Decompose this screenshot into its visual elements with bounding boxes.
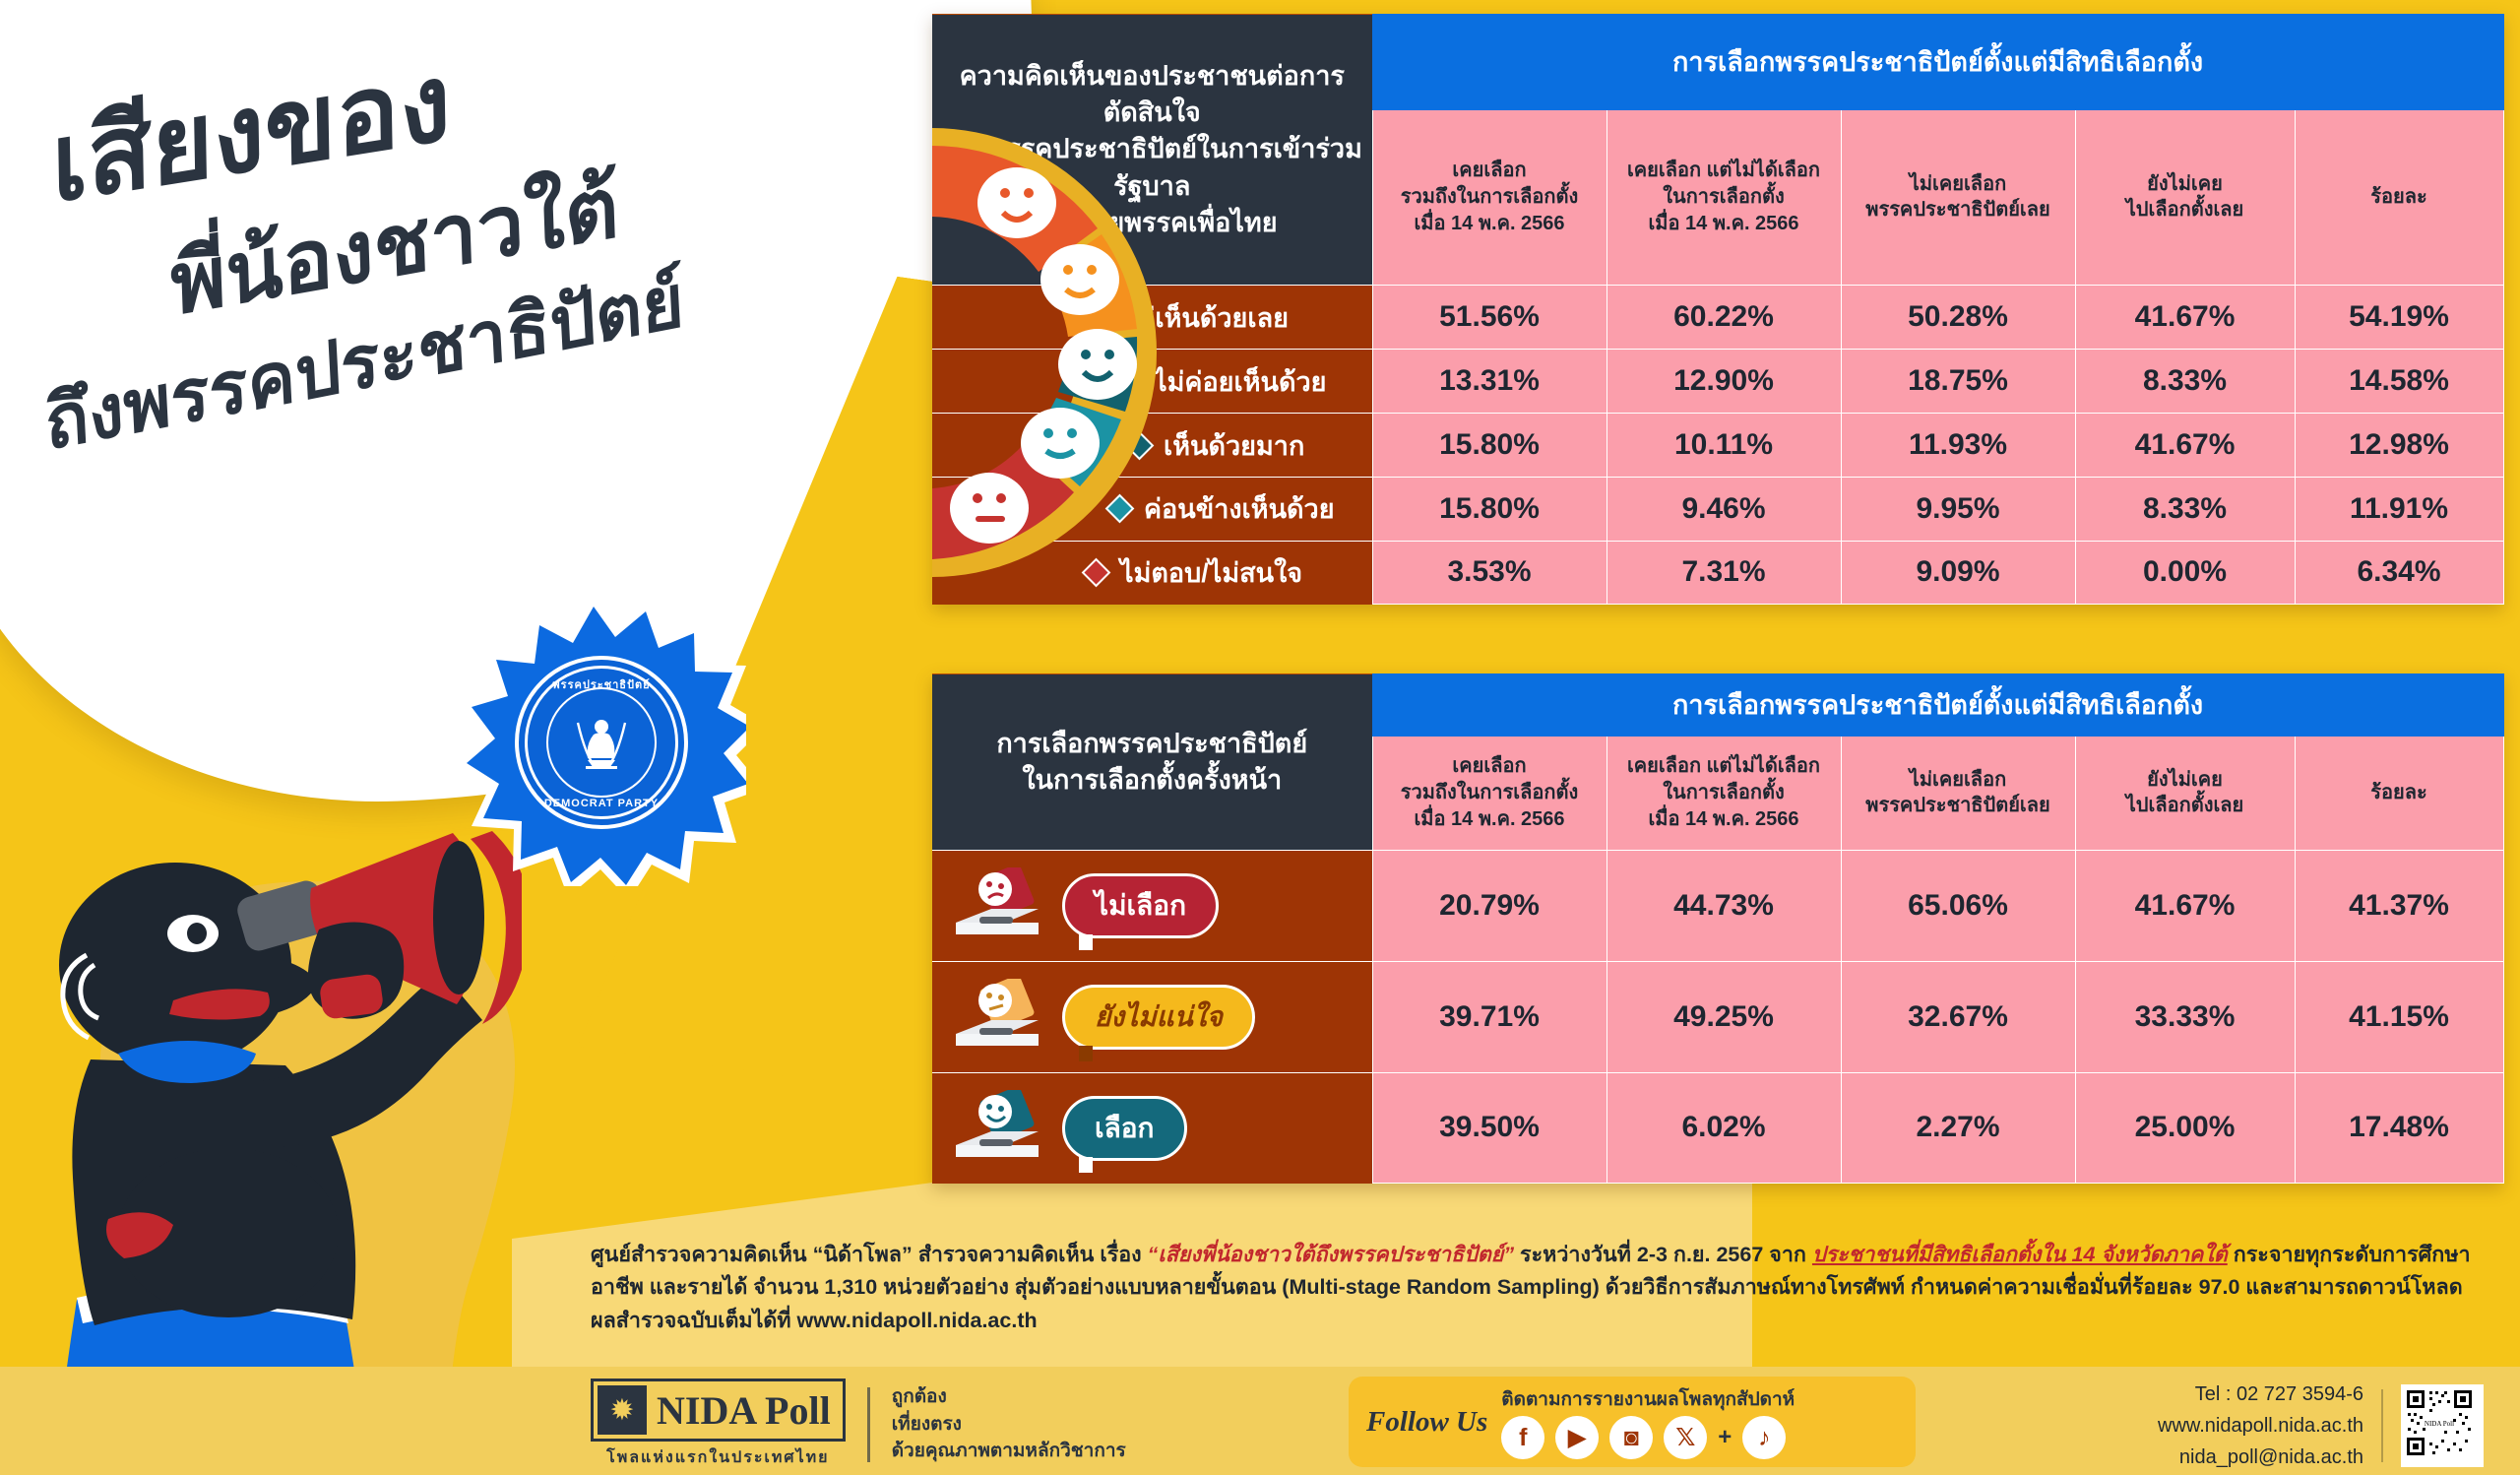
contact-email[interactable]: nida_poll@nida.ac.th xyxy=(2158,1442,2363,1473)
plus-separator: + xyxy=(1718,1424,1732,1451)
cell-r2-c0: 15.80% xyxy=(1372,414,1606,478)
bubble-text: ไม่เลือก xyxy=(1095,884,1186,928)
table1-row-label-3: ค่อนข้างเห็นด้วย xyxy=(932,477,1372,541)
row-label-text: ค่อนข้างเห็นด้วย xyxy=(1144,487,1335,530)
col0-l3: เมื่อ 14 พ.ค. 2566 xyxy=(1373,211,1606,237)
row-label-text: เห็นด้วยมาก xyxy=(1164,424,1304,467)
table2-col-header-4: ร้อยละ xyxy=(2295,736,2503,850)
nida-poll-brand: ✹ NIDA Poll โพลแห่งแรกในประเทศไทย ถูกต้อ… xyxy=(591,1379,1126,1470)
table2-header-line-1: การเลือกพรรคประชาธิปัตย์ xyxy=(932,726,1372,762)
table-row: ค่อนข้างเห็นด้วย 15.80% 9.46% 9.95% 8.33… xyxy=(932,477,2503,541)
footer-line-3: ผลสำรวจฉบับเต็มได้ที่ www.nidapoll.nida.… xyxy=(591,1305,2500,1337)
t2-cell-r0-c2: 65.06% xyxy=(1841,851,2075,962)
motto-2: เที่ยงตรง xyxy=(892,1411,1126,1439)
table-future-election-vote: การเลือกพรรคประชาธิปัตย์ ในการเลือกตั้งค… xyxy=(932,673,2503,1184)
footer-line-2: อาชีพ และรายได้ จำนวน 1,310 หน่วยตัวอย่า… xyxy=(591,1271,2500,1304)
row-label-text: ไม่ค่อยเห็นด้วย xyxy=(1154,360,1326,403)
cell-r1-c2: 18.75% xyxy=(1841,350,2075,414)
col1-l3: เมื่อ 14 พ.ค. 2566 xyxy=(1607,211,1841,237)
cell-r1-c1: 12.90% xyxy=(1606,350,1841,414)
table2-row-header-title: การเลือกพรรคประชาธิปัตย์ ในการเลือกตั้งค… xyxy=(932,674,1372,851)
ballot-box-sad-icon xyxy=(950,867,1044,944)
table1-col-header-2: ไม่เคยเลือก พรรคประชาธิปัตย์เลย xyxy=(1841,109,2075,286)
col2-l2: พรรคประชาธิปัตย์เลย xyxy=(1842,197,2075,224)
table2-row-label-2: เลือก xyxy=(932,1072,1372,1183)
bubble-text: ยังไม่แน่ใจ xyxy=(1095,995,1223,1039)
cell-r3-c0: 15.80% xyxy=(1372,477,1606,541)
cell-r4-c1: 7.31% xyxy=(1606,541,1841,604)
qr-center-label: NIDA Poll xyxy=(2425,1420,2454,1428)
bullet-diamond-icon xyxy=(1082,558,1111,588)
t2col0-l2: รวมถึงในการเลือกตั้ง xyxy=(1373,780,1606,806)
contact-block: Tel : 02 727 3594-6 www.nidapoll.nida.ac… xyxy=(2158,1379,2484,1473)
nida-wheel-emblem-icon: ✹ xyxy=(598,1385,647,1435)
t2col2-l1: ไม่เคยเลือก xyxy=(1842,767,2075,794)
t2-cell-r1-c4: 41.15% xyxy=(2295,961,2503,1072)
table-row: เลือก 39.50% 6.02% 2.27% 25.00% 17.48% xyxy=(932,1072,2503,1183)
cell-r2-c2: 11.93% xyxy=(1841,414,2075,478)
nida-brand-name: NIDA Poll xyxy=(657,1387,831,1434)
table1-row-label-4: ไม่ตอบ/ไม่สนใจ xyxy=(932,541,1372,604)
motto-1: ถูกต้อง xyxy=(892,1383,1126,1411)
cell-r3-c3: 8.33% xyxy=(2075,477,2295,541)
table1-header-line-1: ความคิดเห็นของประชาชนต่อการตัดสินใจ xyxy=(932,58,1372,132)
col2-l1: ไม่เคยเลือก xyxy=(1842,171,2075,198)
table1-col-header-4: ร้อยละ xyxy=(2295,109,2503,286)
table1-row-label-0: ไม่เห็นด้วยเลย xyxy=(932,286,1372,350)
table-opinion-on-joining-government: ความคิดเห็นของประชาชนต่อการตัดสินใจ ของพ… xyxy=(932,14,2503,605)
follow-us-label: Follow Us xyxy=(1366,1406,1487,1439)
col1-l2: ในการเลือกตั้ง xyxy=(1607,184,1841,211)
cell-r0-c4: 54.19% xyxy=(2295,286,2503,350)
bubble-label-0: ไม่เลือก xyxy=(1062,873,1219,938)
table-row: ไม่ตอบ/ไม่สนใจ 3.53% 7.31% 9.09% 0.00% 6… xyxy=(932,541,2503,604)
cell-r4-c2: 9.09% xyxy=(1841,541,2075,604)
cell-r1-c4: 14.58% xyxy=(2295,350,2503,414)
youtube-icon[interactable]: ▶ xyxy=(1555,1416,1599,1459)
table2-col-header-1: เคยเลือก แต่ไม่ได้เลือก ในการเลือกตั้ง เ… xyxy=(1606,736,1841,850)
nida-tagline: โพลแห่งแรกในประเทศไทย xyxy=(591,1445,846,1470)
footer-line-1: ศูนย์สำรวจความคิดเห็น “นิด้าโพล” สำรวจคว… xyxy=(591,1239,2500,1271)
table2-col-header-3: ยังไม่เคย ไปเลือกตั้งเลย xyxy=(2075,736,2295,850)
contact-divider xyxy=(2381,1389,2383,1462)
t2col1-l2: ในการเลือกตั้ง xyxy=(1607,780,1841,806)
col3-l1: ยังไม่เคย xyxy=(2076,171,2295,198)
ballot-box-happy-icon xyxy=(950,1090,1044,1167)
x-twitter-icon[interactable]: 𝕏 xyxy=(1664,1416,1707,1459)
t2-cell-r0-c3: 41.67% xyxy=(2075,851,2295,962)
t2-cell-r2-c0: 39.50% xyxy=(1372,1072,1606,1183)
footer-line1-c: กระจายทุกระดับการศึกษา xyxy=(2228,1243,2471,1266)
table-row: ไม่เห็นด้วยเลย 51.56% 60.22% 50.28% 41.6… xyxy=(932,286,2503,350)
col4-l1: ร้อยละ xyxy=(2296,184,2503,211)
t2col1-l1: เคยเลือก แต่ไม่ได้เลือก xyxy=(1607,753,1841,780)
cell-r1-c0: 13.31% xyxy=(1372,350,1606,414)
table1-row-header-title: ความคิดเห็นของประชาชนต่อการตัดสินใจ ของพ… xyxy=(932,15,1372,286)
t2-cell-r2-c2: 2.27% xyxy=(1841,1072,2075,1183)
col0-l2: รวมถึงในการเลือกตั้ง xyxy=(1373,184,1606,211)
survey-methodology-note: ศูนย์สำรวจความคิดเห็น “นิด้าโพล” สำรวจคว… xyxy=(591,1239,2500,1337)
ballot-box-neutral-icon xyxy=(950,979,1044,1056)
cell-r2-c1: 10.11% xyxy=(1606,414,1841,478)
table1-row-label-1: ไม่ค่อยเห็นด้วย xyxy=(932,350,1372,414)
t2col3-l2: ไปเลือกตั้งเลย xyxy=(2076,793,2295,819)
footer-line1-a: ศูนย์สำรวจความคิดเห็น “นิด้าโพล” สำรวจคว… xyxy=(591,1243,1148,1266)
qr-code-icon[interactable]: NIDA Poll xyxy=(2401,1384,2484,1467)
cell-r4-c0: 3.53% xyxy=(1372,541,1606,604)
seal-english-name: DEMOCRAT PARTY xyxy=(528,798,675,809)
table-row: ไม่เลือก 20.79% 44.73% 65.06% 41.67% 41.… xyxy=(932,851,2503,962)
bubble-text: เลือก xyxy=(1095,1107,1155,1150)
contact-tel: Tel : 02 727 3594-6 xyxy=(2158,1379,2363,1410)
col3-l2: ไปเลือกตั้งเลย xyxy=(2076,197,2295,224)
row-label-text: ไม่ตอบ/ไม่สนใจ xyxy=(1120,551,1302,594)
footer-topic-highlight: “เสียงพี่น้องชาวใต้ถึงพรรคประชาธิปัตย์” xyxy=(1148,1243,1514,1266)
table-row: ยังไม่แน่ใจ 39.71% 49.25% 32.67% 33.33% … xyxy=(932,961,2503,1072)
table2-row-label-0: ไม่เลือก xyxy=(932,851,1372,962)
motto-3: ด้วยคุณภาพตามหลักวิชาการ xyxy=(892,1438,1126,1465)
facebook-icon[interactable]: f xyxy=(1501,1416,1544,1459)
qr-code-svg: NIDA Poll xyxy=(2404,1387,2475,1458)
col0-l1: เคยเลือก xyxy=(1373,158,1606,184)
cell-r4-c4: 6.34% xyxy=(2295,541,2503,604)
table1-group-header: การเลือกพรรคประชาธิปัตย์ตั้งแต่มีสิทธิเล… xyxy=(1372,15,2503,110)
table1-col-header-3: ยังไม่เคย ไปเลือกตั้งเลย xyxy=(2075,109,2295,286)
instagram-icon[interactable]: ◙ xyxy=(1609,1416,1653,1459)
table1-col-header-1: เคยเลือก แต่ไม่ได้เลือก ในการเลือกตั้ง เ… xyxy=(1606,109,1841,286)
table2-header-line-2: ในการเลือกตั้งครั้งหน้า xyxy=(932,762,1372,799)
bullet-diamond-icon xyxy=(1105,494,1135,524)
t2-cell-r0-c4: 41.37% xyxy=(2295,851,2503,962)
table2-grid: การเลือกพรรคประชาธิปัตย์ ในการเลือกตั้งค… xyxy=(932,673,2504,1184)
t2col0-l1: เคยเลือก xyxy=(1373,753,1606,780)
tiktok-icon[interactable]: ♪ xyxy=(1742,1416,1786,1459)
col1-l1: เคยเลือก แต่ไม่ได้เลือก xyxy=(1607,158,1841,184)
row-label-text: ไม่เห็นด้วยเลย xyxy=(1124,296,1289,339)
cell-r0-c0: 51.56% xyxy=(1372,286,1606,350)
seal-figure-icon xyxy=(564,705,639,780)
cell-r0-c2: 50.28% xyxy=(1841,286,2075,350)
democrat-party-seal-icon: พรรคประชาธิปัตย์ DEMOCRAT PARTY xyxy=(515,656,688,829)
infographic-canvas: เสียงของ พี่น้องชาวใต้ ถึงพรรคประชาธิปัต… xyxy=(0,0,2520,1475)
cell-r3-c2: 9.95% xyxy=(1841,477,2075,541)
t2-cell-r0-c1: 44.73% xyxy=(1606,851,1841,962)
table-row: เห็นด้วยมาก 15.80% 10.11% 11.93% 41.67% … xyxy=(932,414,2503,478)
t2-cell-r1-c2: 32.67% xyxy=(1841,961,2075,1072)
brand-divider xyxy=(867,1387,870,1462)
table1-grid: ความคิดเห็นของประชาชนต่อการตัดสินใจ ของพ… xyxy=(932,14,2504,605)
t2col1-l3: เมื่อ 14 พ.ค. 2566 xyxy=(1607,806,1841,833)
t2-cell-r1-c0: 39.71% xyxy=(1372,961,1606,1072)
bubble-label-2: เลือก xyxy=(1062,1096,1187,1161)
contact-website[interactable]: www.nidapoll.nida.ac.th xyxy=(2158,1410,2363,1442)
t2-cell-r1-c3: 33.33% xyxy=(2075,961,2295,1072)
footer-line1-b: ระหว่างวันที่ 2-3 ก.ย. 2567 จาก xyxy=(1514,1243,1812,1266)
cell-r1-c3: 8.33% xyxy=(2075,350,2295,414)
t2col3-l1: ยังไม่เคย xyxy=(2076,767,2295,794)
table2-col-header-0: เคยเลือก รวมถึงในการเลือกตั้ง เมื่อ 14 พ… xyxy=(1372,736,1606,850)
cell-r2-c3: 41.67% xyxy=(2075,414,2295,478)
cell-r3-c4: 11.91% xyxy=(2295,477,2503,541)
table2-group-header: การเลือกพรรคประชาธิปัตย์ตั้งแต่มีสิทธิเล… xyxy=(1372,674,2503,737)
bottom-bar xyxy=(0,1367,2520,1475)
bullet-diamond-icon xyxy=(1086,302,1115,332)
table2-col-header-2: ไม่เคยเลือก พรรคประชาธิปัตย์เลย xyxy=(1841,736,2075,850)
bullet-diamond-icon xyxy=(1115,366,1145,396)
cell-r2-c4: 12.98% xyxy=(2295,414,2503,478)
nida-mottos: ถูกต้อง เที่ยงตรง ด้วยคุณภาพตามหลักวิชาก… xyxy=(892,1383,1126,1465)
cell-r4-c3: 0.00% xyxy=(2075,541,2295,604)
table1-header-line-3: ที่นำโดยพรรคเพื่อไทย xyxy=(932,205,1372,241)
t2col2-l2: พรรคประชาธิปัตย์เลย xyxy=(1842,793,2075,819)
t2col4-l1: ร้อยละ xyxy=(2296,780,2503,806)
cell-r0-c1: 60.22% xyxy=(1606,286,1841,350)
table2-row-label-1: ยังไม่แน่ใจ xyxy=(932,961,1372,1072)
follow-headline: ติดตามการรายงานผลโพลทุกสัปดาห์ xyxy=(1501,1384,1795,1414)
t2-cell-r2-c4: 17.48% xyxy=(2295,1072,2503,1183)
table1-header-line-2: ของพรรคประชาธิปัตย์ในการเข้าร่วมรัฐบาล xyxy=(932,131,1372,205)
t2-cell-r2-c1: 6.02% xyxy=(1606,1072,1841,1183)
democrat-party-badge: พรรคประชาธิปัตย์ DEMOCRAT PARTY xyxy=(441,591,746,886)
cell-r0-c3: 41.67% xyxy=(2075,286,2295,350)
follow-us-panel: Follow Us ติดตามการรายงานผลโพลทุกสัปดาห์… xyxy=(1349,1377,1916,1467)
t2-cell-r1-c1: 49.25% xyxy=(1606,961,1841,1072)
t2col0-l3: เมื่อ 14 พ.ค. 2566 xyxy=(1373,806,1606,833)
table-row: ไม่ค่อยเห็นด้วย 13.31% 12.90% 18.75% 8.3… xyxy=(932,350,2503,414)
nida-logo-box: ✹ NIDA Poll xyxy=(591,1379,846,1442)
table1-row-label-2: เห็นด้วยมาก xyxy=(932,414,1372,478)
bubble-label-1: ยังไม่แน่ใจ xyxy=(1062,985,1255,1050)
footer-population-highlight: ประชาชนที่มีสิทธิเลือกตั้งใน 14 จังหวัดภ… xyxy=(1812,1243,2228,1266)
seal-thai-name: พรรคประชาธิปัตย์ xyxy=(528,675,675,693)
social-links-row: f ▶ ◙ 𝕏 + ♪ xyxy=(1501,1416,1795,1459)
table1-col-header-0: เคยเลือก รวมถึงในการเลือกตั้ง เมื่อ 14 พ… xyxy=(1372,109,1606,286)
t2-cell-r2-c3: 25.00% xyxy=(2075,1072,2295,1183)
t2-cell-r0-c0: 20.79% xyxy=(1372,851,1606,962)
cell-r3-c1: 9.46% xyxy=(1606,477,1841,541)
bullet-diamond-icon xyxy=(1125,430,1155,460)
